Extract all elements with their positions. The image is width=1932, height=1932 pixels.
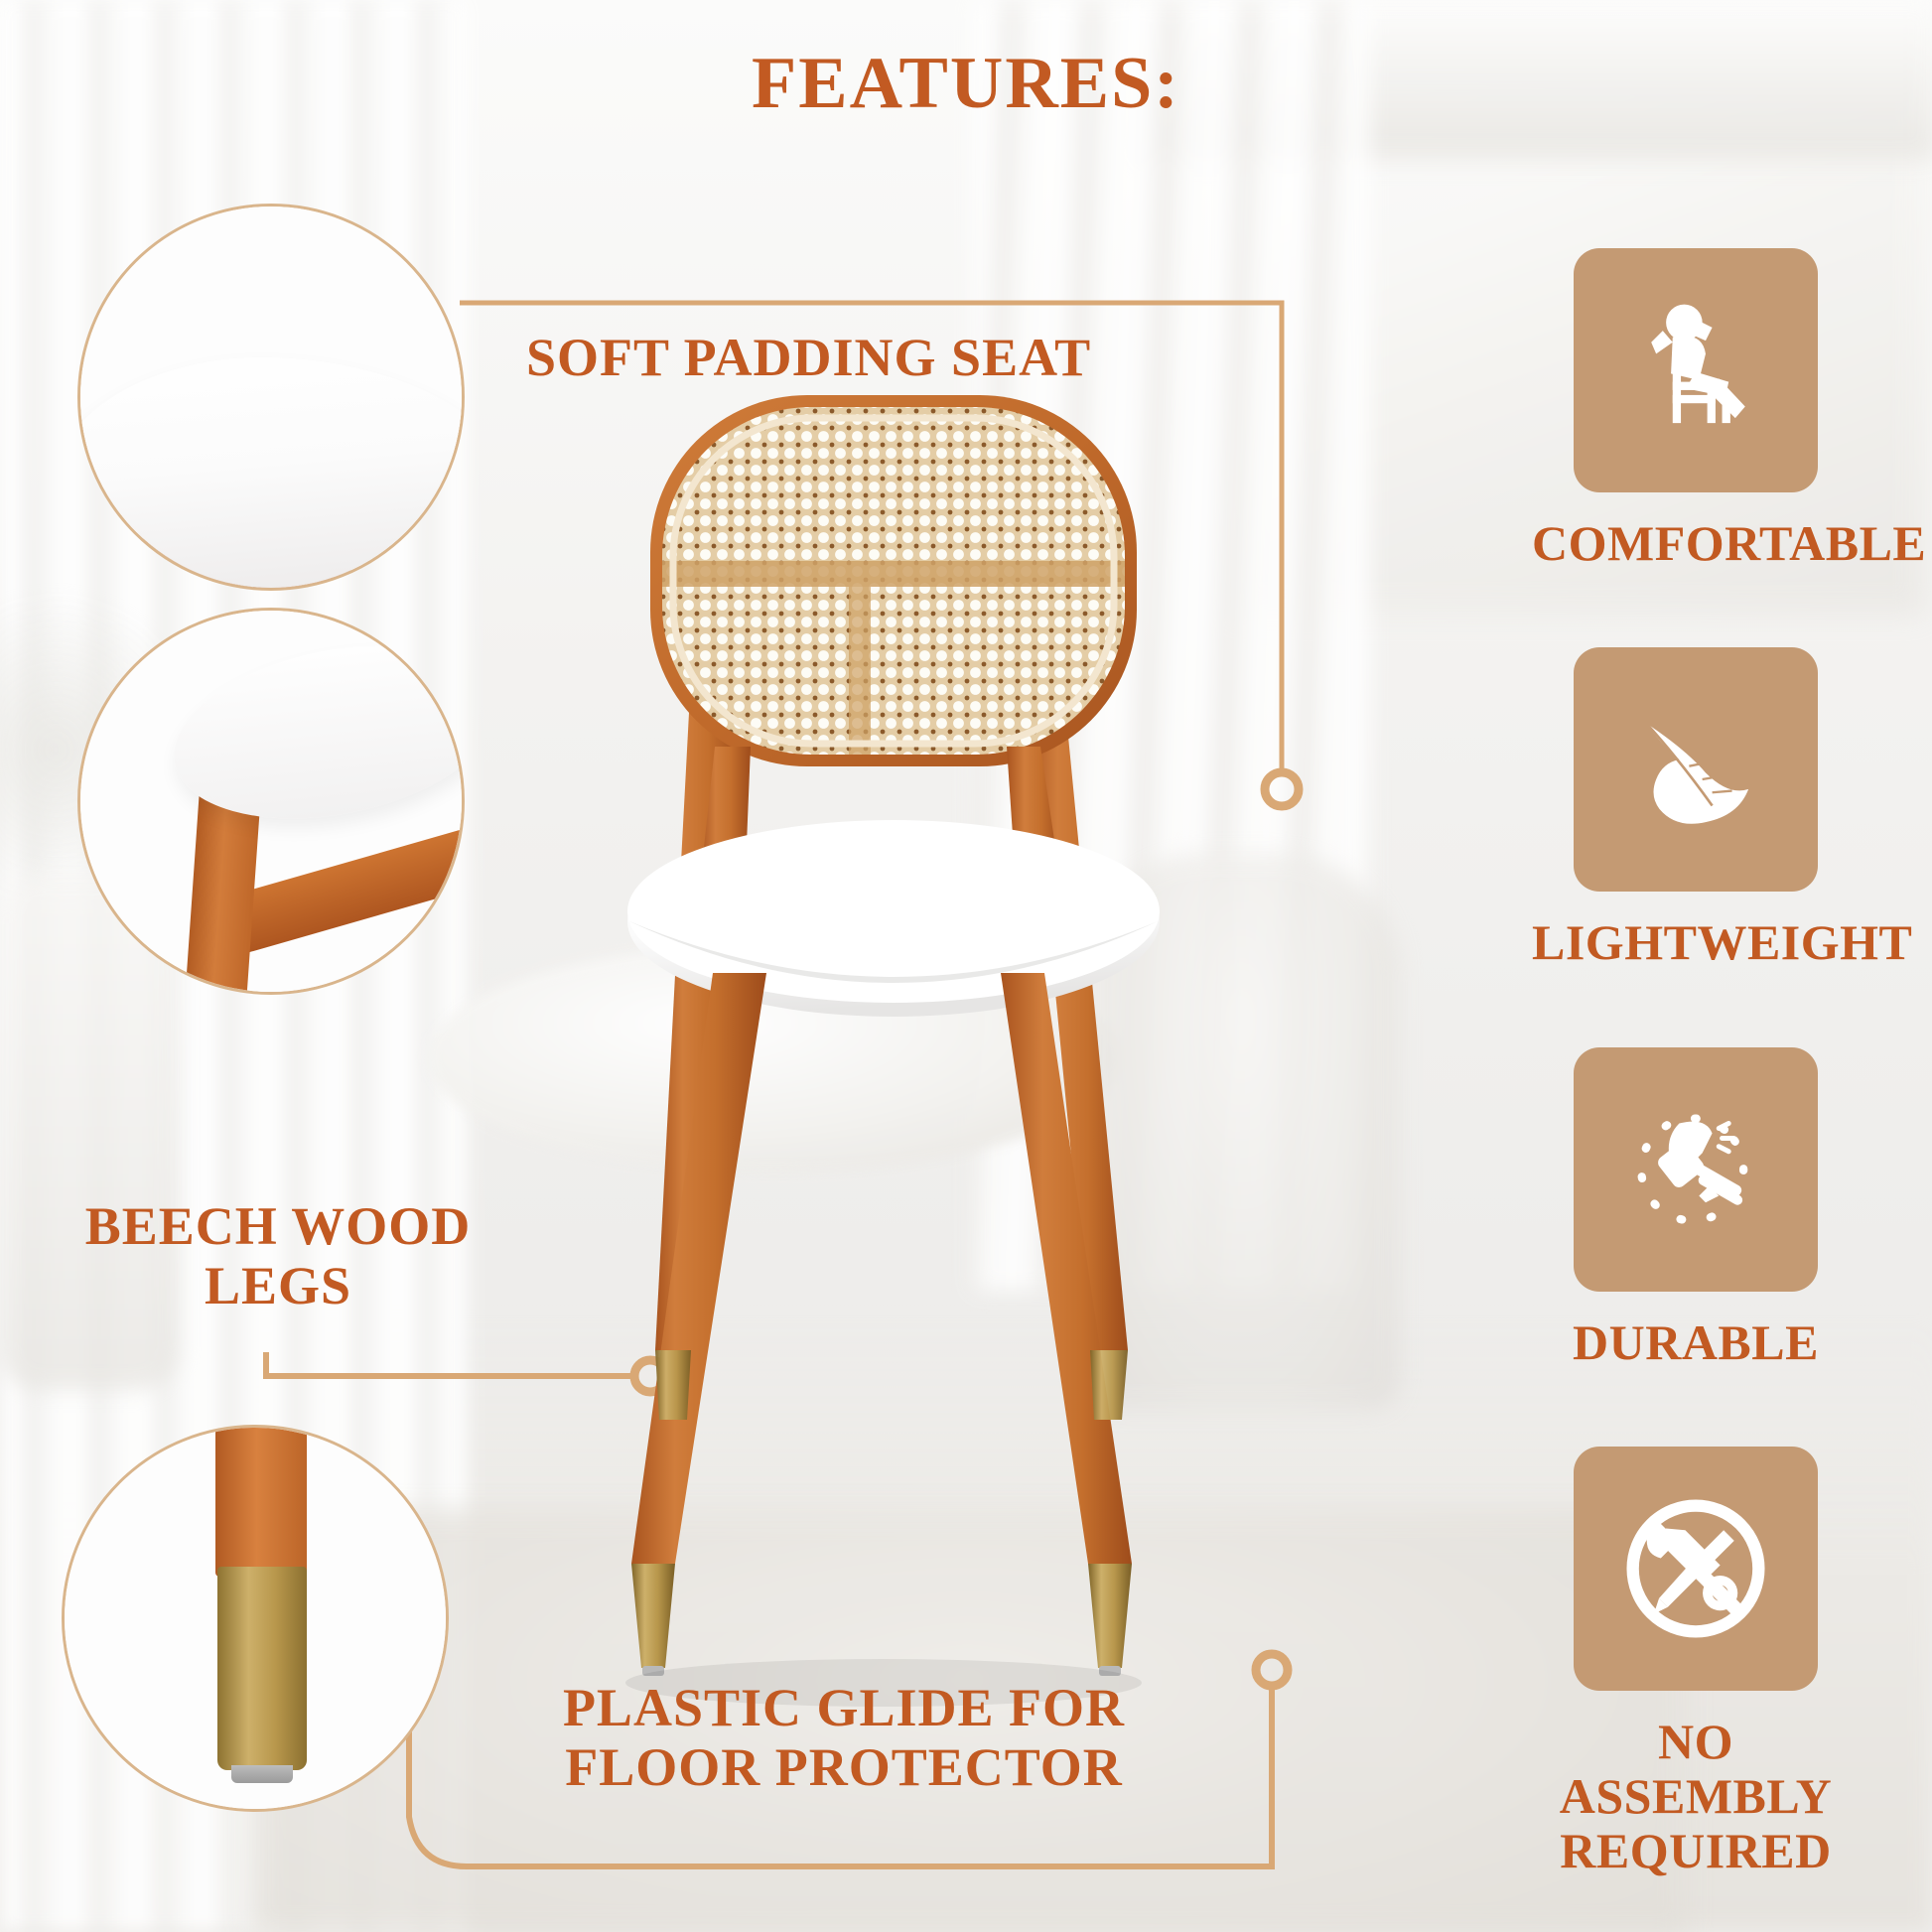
feature-icon-tile xyxy=(1574,248,1818,492)
feature-icon-tile xyxy=(1574,1447,1818,1691)
plastic-glide-foot-detail xyxy=(62,1425,449,1812)
callout-label-plastic-glide: PLASTIC GLIDE FOR FLOOR PROTECTOR xyxy=(501,1678,1186,1798)
person-relaxing-in-chair-icon xyxy=(1613,288,1778,453)
wood-leg xyxy=(215,1425,307,1577)
soft-padding-seat-detail xyxy=(77,204,465,591)
feature-label: DURABLE xyxy=(1532,1315,1860,1370)
feature-item-durable: DURABLE xyxy=(1532,1047,1860,1370)
feather-icon xyxy=(1613,687,1778,852)
beech-wood-leg-detail xyxy=(77,608,465,995)
callout-label-soft-padding-seat: SOFT PADDING SEAT xyxy=(526,328,1221,387)
brass-foot-cap xyxy=(217,1567,307,1770)
hammer-with-dotted-circle-icon xyxy=(1613,1087,1778,1252)
white-cushion xyxy=(77,357,465,591)
feature-item-no-assembly: NO ASSEMBLY REQUIRED xyxy=(1532,1447,1860,1878)
page-title: FEATURES: xyxy=(0,42,1932,126)
feature-item-lightweight: LIGHTWEIGHT xyxy=(1532,647,1860,970)
feature-label: NO ASSEMBLY REQUIRED xyxy=(1532,1715,1860,1878)
feature-icon-tile xyxy=(1574,1047,1818,1292)
feature-item-comfortable: COMFORTABLE xyxy=(1532,248,1860,571)
feature-icon-tile xyxy=(1574,647,1818,892)
no-tools-wrench-screwdriver-icon xyxy=(1608,1481,1783,1656)
feature-label: COMFORTABLE xyxy=(1532,516,1860,571)
feature-infographic: FEATURES: SOFT PADDING SEAT BEECH WOOD L… xyxy=(0,0,1932,1932)
product-chair-image xyxy=(596,377,1311,1708)
plastic-glide xyxy=(231,1765,293,1783)
callout-label-beech-wood-legs: BEECH WOOD LEGS xyxy=(20,1196,536,1316)
feature-label: LIGHTWEIGHT xyxy=(1532,915,1860,970)
